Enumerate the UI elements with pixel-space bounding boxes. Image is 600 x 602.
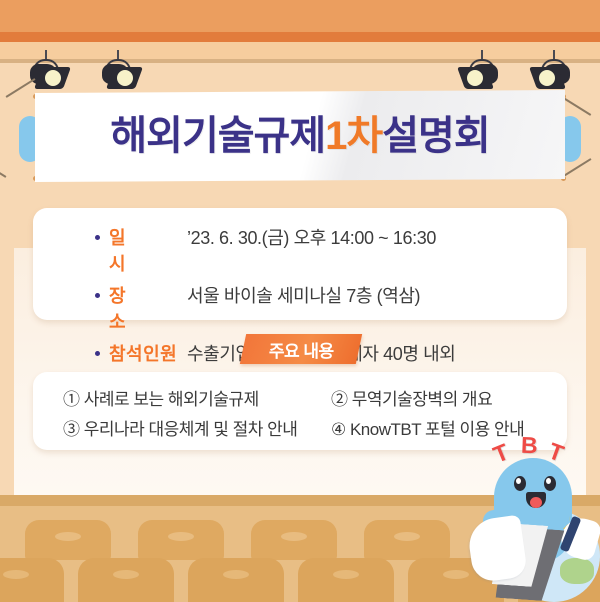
info-label-date: 일 시 [109, 224, 187, 276]
agenda-item-2: ② 무역기술장벽의 개요 [331, 385, 567, 410]
info-row-venue: 장 소 서울 바이솔 세미나실 7층 (역삼) [95, 282, 567, 334]
spotlight-icon [458, 50, 504, 90]
seat [78, 558, 174, 602]
title-banner: 해외기술규제1차설명회 [0, 90, 600, 182]
tbt-logo-text: T B T [494, 432, 574, 462]
mascot-left-arm [466, 515, 528, 584]
ceiling-band-upper [0, 0, 600, 32]
title-main-text: 해외기술규제 [110, 114, 325, 158]
mascot-eye-icon [544, 476, 556, 491]
seat [251, 520, 337, 560]
spotlight-icon [530, 50, 576, 90]
title-tail-text: 설명회 [382, 114, 489, 158]
info-label-attendees: 참석인원 [109, 340, 187, 366]
page-title: 해외기술규제1차설명회 [110, 116, 489, 156]
agenda-item-3: ③ 우리나라 대응체계 및 절차 안내 [63, 415, 331, 440]
event-poster: 해외기술규제1차설명회 일 시 ’23. 6. 30.(금) 오후 14:00 … [0, 0, 600, 602]
tbt-letter-b: B [521, 432, 539, 460]
info-value-venue: 서울 바이솔 세미나실 7층 (역삼) [187, 282, 420, 308]
seat [138, 520, 224, 560]
agenda-item-1: ① 사례로 보는 해외기술규제 [63, 385, 331, 410]
bullet-icon [95, 351, 100, 356]
ceiling-band-accent [0, 32, 600, 42]
spotlight-icon [24, 50, 70, 90]
tbt-letter-t2: T [545, 437, 567, 467]
mascot-eye-icon [514, 476, 526, 491]
tbt-mascot: T B T [470, 432, 600, 602]
title-accent-text: 1차 [325, 114, 382, 158]
spotlight-icon [96, 50, 142, 90]
seat [25, 520, 111, 560]
info-label-venue: 장 소 [109, 282, 187, 334]
section-badge-label: 주요 내용 [269, 337, 334, 362]
tbt-letter-t1: T [489, 438, 512, 468]
ceiling-band-lower [0, 42, 600, 59]
seat [0, 558, 64, 602]
seat [364, 520, 450, 560]
bullet-icon [95, 293, 100, 298]
seat [188, 558, 284, 602]
event-info-card: 일 시 ’23. 6. 30.(금) 오후 14:00 ~ 16:30 장 소 … [33, 208, 567, 320]
bullet-icon [95, 235, 100, 240]
section-badge: 주요 내용 [240, 334, 362, 364]
info-row-date: 일 시 ’23. 6. 30.(금) 오후 14:00 ~ 16:30 [95, 224, 567, 276]
seat [298, 558, 394, 602]
info-value-date: ’23. 6. 30.(금) 오후 14:00 ~ 16:30 [187, 224, 436, 250]
